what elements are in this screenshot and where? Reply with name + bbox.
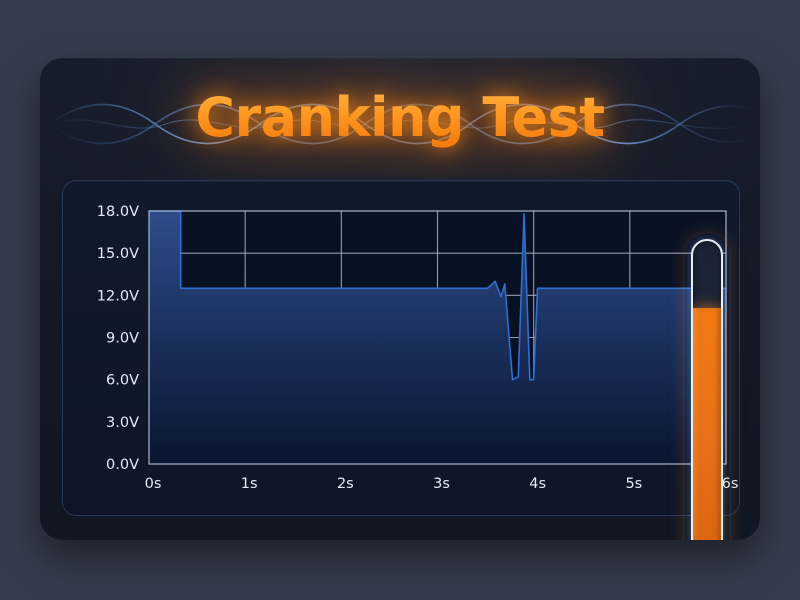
svg-text:5s: 5s [625, 476, 642, 492]
svg-text:1s: 1s [241, 476, 258, 492]
svg-text:18.0V: 18.0V [97, 204, 139, 220]
x-axis-tick-labels: 0s1s2s3s4s5s6s [145, 476, 739, 492]
voltage-chart: 0.0V3.0V6.0V9.0V12.0V15.0V18.0V 0s1s2s3s… [63, 181, 739, 515]
svg-text:15.0V: 15.0V [97, 246, 139, 262]
battery-level-gauge[interactable] [691, 239, 723, 540]
cranking-test-card: Cranking Test [40, 58, 760, 540]
y-axis-tick-labels: 0.0V3.0V6.0V9.0V12.0V15.0V18.0V [97, 204, 139, 473]
svg-text:9.0V: 9.0V [106, 331, 139, 347]
svg-text:3s: 3s [433, 476, 450, 492]
screen: Cranking Test [0, 0, 800, 600]
svg-text:3.0V: 3.0V [106, 415, 139, 431]
page-title: Cranking Test [40, 86, 760, 149]
svg-text:6.0V: 6.0V [106, 373, 139, 389]
svg-text:2s: 2s [337, 476, 354, 492]
svg-text:0.0V: 0.0V [106, 457, 139, 473]
svg-text:12.0V: 12.0V [97, 288, 139, 304]
gauge-fill-level [693, 308, 721, 540]
chart-panel: 0.0V3.0V6.0V9.0V12.0V15.0V18.0V 0s1s2s3s… [62, 180, 740, 516]
svg-text:0s: 0s [145, 476, 162, 492]
gauge-tube [691, 239, 723, 540]
card-header: Cranking Test [40, 58, 760, 178]
svg-text:6s: 6s [722, 476, 739, 492]
svg-text:4s: 4s [529, 476, 546, 492]
